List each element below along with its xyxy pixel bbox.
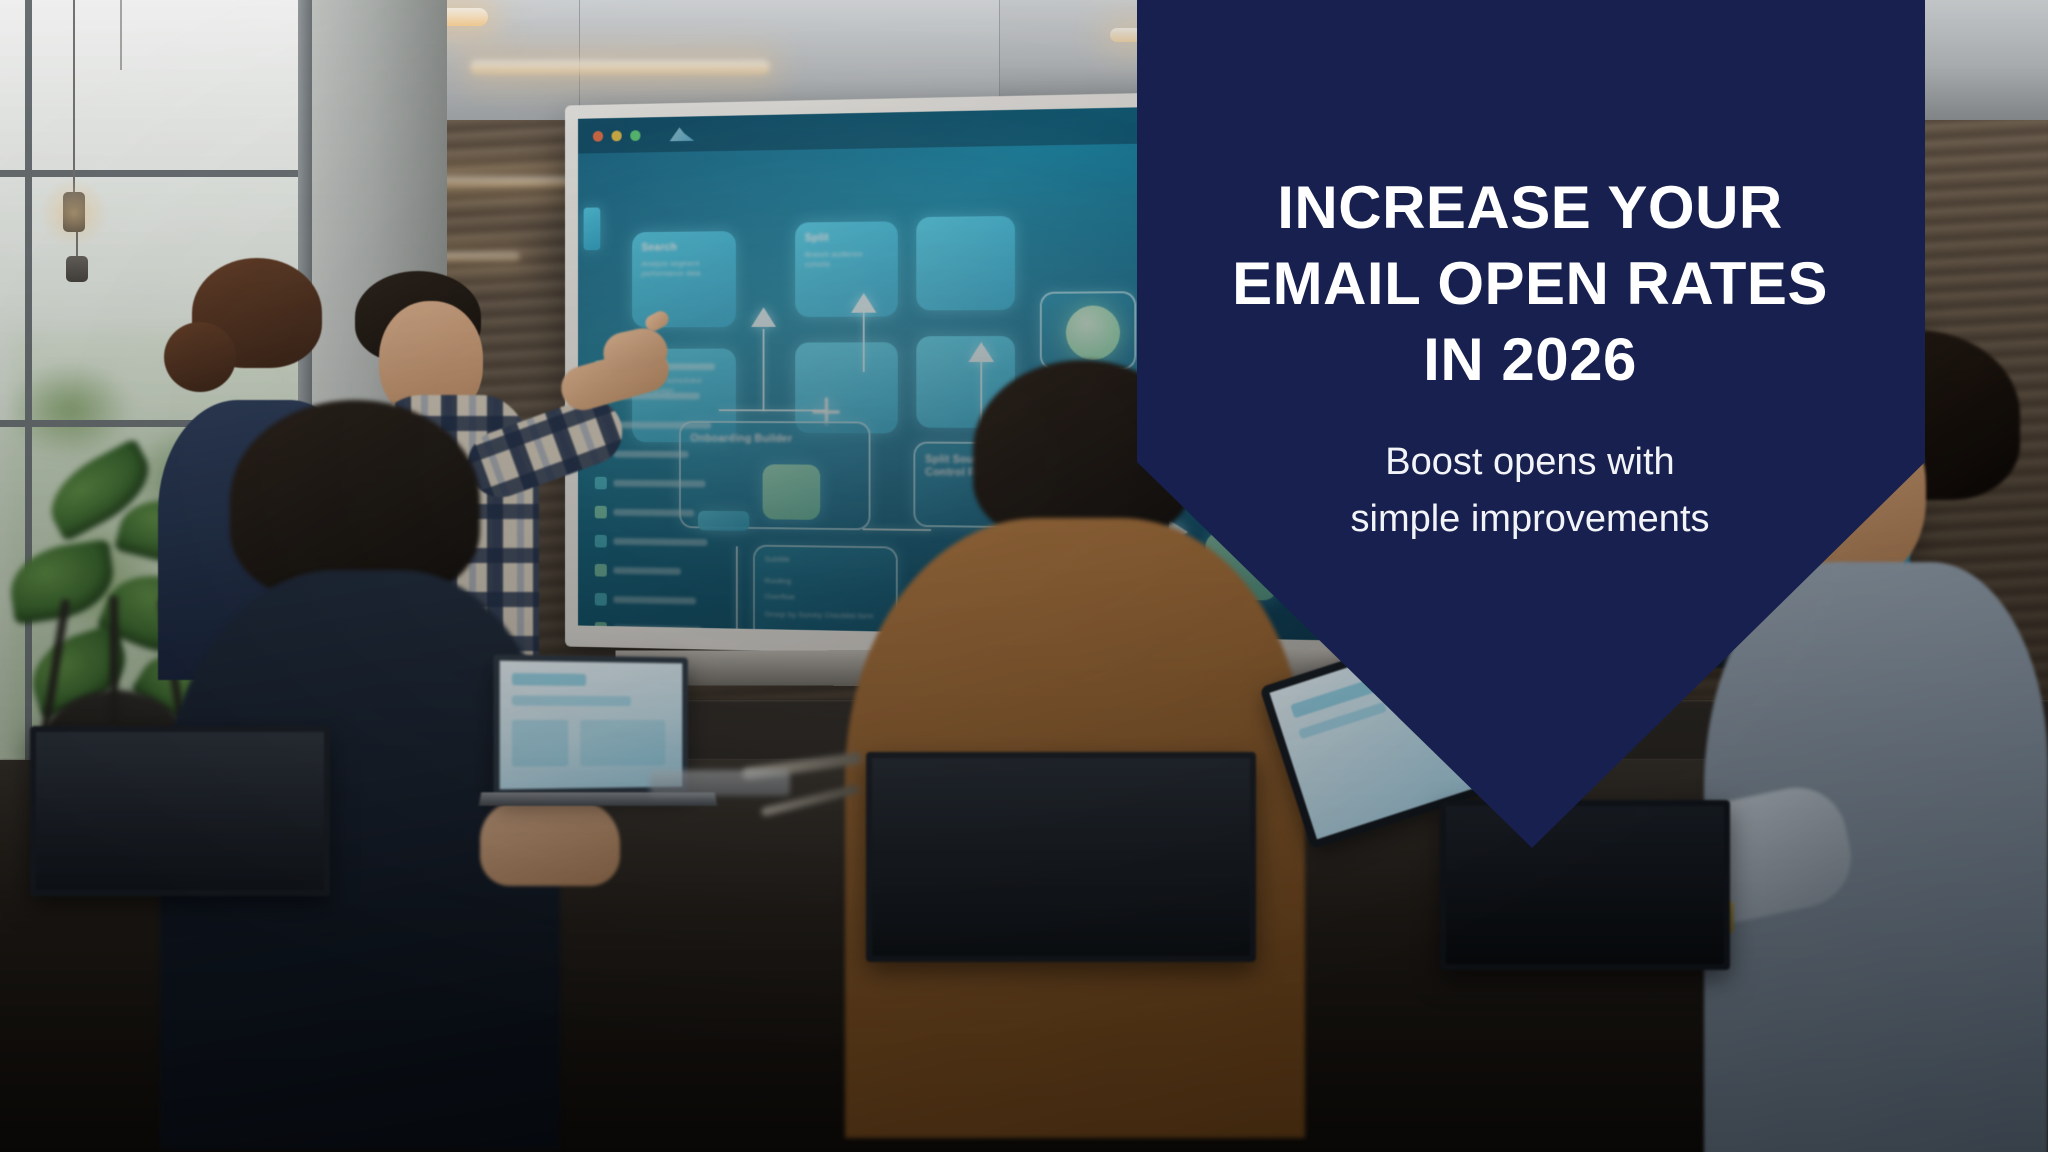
banner-image: Search Analyze segment performance data … <box>0 0 2048 1152</box>
banner-headline: INCREASE YOUR EMAIL OPEN RATES IN 2026 <box>1150 170 1910 398</box>
banner-subhead: Boost opens with simple improvements <box>1150 434 1910 548</box>
banner-text-block: INCREASE YOUR EMAIL OPEN RATES IN 2026 B… <box>1150 170 1910 548</box>
